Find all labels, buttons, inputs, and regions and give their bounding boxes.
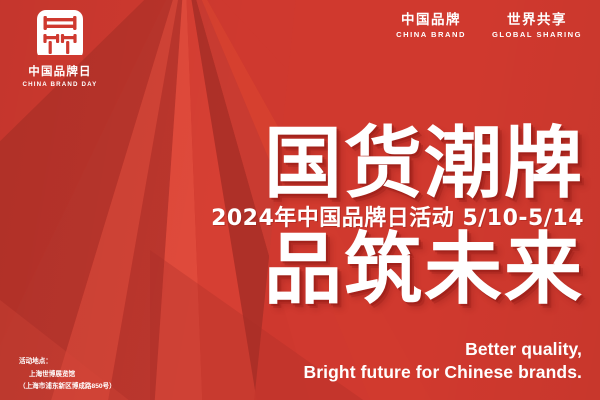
china-brand-day-poster: 中国品牌日 CHINA BRAND DAY 中国品牌 CHINA BRAND 世… — [0, 0, 600, 400]
headline-block: 国货潮牌 2024年中国品牌日活动 5/10-5/14 品筑未来 — [211, 128, 584, 306]
brand-slogan-lockup: 中国品牌 CHINA BRAND 世界共享 GLOBAL SHARING — [396, 13, 582, 38]
brand-unit-global-sharing: 世界共享 GLOBAL SHARING — [492, 13, 582, 38]
headline-line-1: 国货潮牌 — [211, 128, 584, 201]
venue-label: 活动地点： — [19, 356, 116, 368]
pin-logo-icon — [37, 10, 83, 60]
english-tagline: Better quality, Bright future for Chines… — [304, 338, 582, 384]
logo-chinese-label: 中国品牌日 — [28, 67, 92, 79]
tagline-line-2: Bright future for Chinese brands. — [304, 361, 582, 384]
brand-cn-global-sharing: 世界共享 — [507, 13, 567, 27]
brand-en-global-sharing: GLOBAL SHARING — [492, 31, 582, 39]
headline-line-2: 品筑未来 — [211, 234, 584, 307]
china-brand-day-logo: 中国品牌日 CHINA BRAND DAY — [14, 10, 106, 88]
venue-name: 上海世博展览馆 — [19, 369, 116, 381]
brand-en-china-brand: CHINA BRAND — [396, 31, 466, 39]
brand-cn-china-brand: 中国品牌 — [401, 13, 461, 27]
logo-english-label: CHINA BRAND DAY — [23, 82, 98, 88]
venue-info: 活动地点： 上海世博展览馆 （上海市浦东新区博成路850号） — [19, 356, 116, 393]
brand-unit-china-brand: 中国品牌 CHINA BRAND — [396, 13, 466, 38]
tagline-line-1: Better quality, — [304, 338, 582, 361]
venue-address: （上海市浦东新区博成路850号） — [19, 381, 116, 393]
